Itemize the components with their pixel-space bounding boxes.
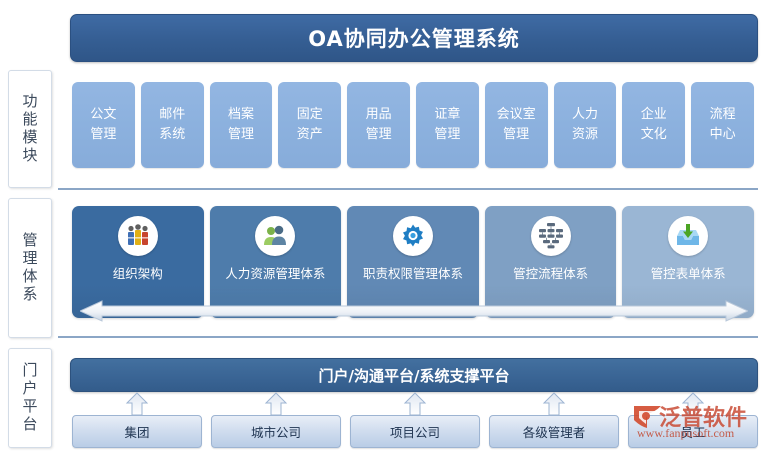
module-card-label-line1: 用品 xyxy=(366,105,392,125)
module-card-row: 公文管理邮件系统档案管理固定资产用品管理证章管理会议室管理人力资源企业文化流程中… xyxy=(72,82,754,168)
module-card[interactable]: 档案管理 xyxy=(210,82,273,168)
connector-arrows xyxy=(72,392,758,416)
module-card[interactable]: 企业文化 xyxy=(622,82,685,168)
module-card-label-line1: 企业 xyxy=(641,105,667,125)
management-card[interactable]: 管控流程体系 xyxy=(485,206,617,318)
module-card[interactable]: 流程中心 xyxy=(691,82,754,168)
module-card-label-line1: 档案 xyxy=(228,105,254,125)
management-card[interactable]: 组织架构 xyxy=(72,206,204,318)
connector-arrow-up xyxy=(683,393,703,415)
portal-platform-bar: 门户/沟通平台/系统支撑平台 xyxy=(70,358,758,392)
module-card-label-line2: 管理 xyxy=(434,125,460,145)
connector-arrow-up xyxy=(405,393,425,415)
portal-box[interactable]: 员工 xyxy=(628,415,758,448)
portal-box[interactable]: 集团 xyxy=(72,415,202,448)
people-group-icon xyxy=(118,216,158,256)
module-card[interactable]: 人力资源 xyxy=(554,82,617,168)
module-card[interactable]: 用品管理 xyxy=(347,82,410,168)
connector-arrow-up xyxy=(127,393,147,415)
module-card[interactable]: 固定资产 xyxy=(278,82,341,168)
management-card[interactable]: 管控表单体系 xyxy=(622,206,754,318)
module-card-label-line1: 证章 xyxy=(434,105,460,125)
page-title: OA协同办公管理系统 xyxy=(70,14,758,62)
module-card-label-line2: 管理 xyxy=(503,125,529,145)
portal-box[interactable]: 各级管理者 xyxy=(489,415,619,448)
gear-icon xyxy=(393,216,433,256)
module-card-label-line2: 管理 xyxy=(90,125,116,145)
module-card[interactable]: 公文管理 xyxy=(72,82,135,168)
management-card-label: 管控流程体系 xyxy=(513,263,588,282)
management-card-row: 组织架构 人力资源管理体系 职责权限管理体系 xyxy=(72,206,754,318)
module-card-label-line2: 中心 xyxy=(710,125,736,145)
module-card[interactable]: 邮件系统 xyxy=(141,82,204,168)
module-card-label-line2: 资产 xyxy=(297,125,323,145)
two-users-icon xyxy=(255,216,295,256)
module-card-label-line1: 邮件 xyxy=(159,105,185,125)
module-card-label-line2: 文化 xyxy=(641,125,667,145)
management-card-label: 管控表单体系 xyxy=(651,263,726,282)
module-card-label-line2: 管理 xyxy=(228,125,254,145)
module-card-label-line1: 人力 xyxy=(572,105,598,125)
module-card-label-line2: 系统 xyxy=(159,125,185,145)
diagram-root: OA协同办公管理系统 功能模块 管理体系 门户平台 公文管理邮件系统档案管理固定… xyxy=(0,0,763,452)
module-card[interactable]: 会议室管理 xyxy=(485,82,548,168)
management-card[interactable]: 职责权限管理体系 xyxy=(347,206,479,318)
portal-box[interactable]: 城市公司 xyxy=(211,415,341,448)
management-card[interactable]: 人力资源管理体系 xyxy=(210,206,342,318)
module-card-label-line2: 管理 xyxy=(366,125,392,145)
module-card-label-line1: 流程 xyxy=(710,105,736,125)
connector-arrow-up xyxy=(266,393,286,415)
sidebar-item-portal-platform: 门户平台 xyxy=(8,348,52,448)
module-card-label-line1: 固定 xyxy=(297,105,323,125)
flowchart-icon xyxy=(531,216,571,256)
portal-box-row: 集团城市公司项目公司各级管理者员工 xyxy=(72,415,758,448)
download-tray-icon xyxy=(668,216,708,256)
module-card-label-line1: 会议室 xyxy=(497,105,536,125)
module-card-label-line2: 资源 xyxy=(572,125,598,145)
portal-box[interactable]: 项目公司 xyxy=(350,415,480,448)
sidebar-item-function-modules: 功能模块 xyxy=(8,70,52,188)
sidebar-item-management-system: 管理体系 xyxy=(8,198,52,338)
management-card-label: 职责权限管理体系 xyxy=(363,263,463,282)
connector-arrow-up xyxy=(544,393,564,415)
management-card-label: 组织架构 xyxy=(113,263,163,282)
module-card[interactable]: 证章管理 xyxy=(416,82,479,168)
management-card-label: 人力资源管理体系 xyxy=(225,263,325,282)
module-card-label-line1: 公文 xyxy=(90,105,116,125)
